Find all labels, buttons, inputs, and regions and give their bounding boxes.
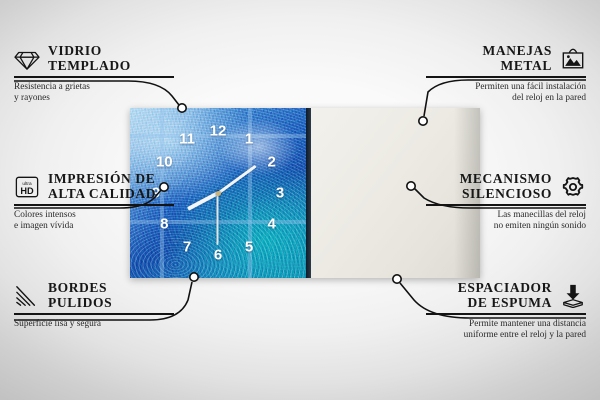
- feature-title: Bordes pulidos: [48, 281, 112, 310]
- divider: [14, 204, 174, 206]
- center-pin: [216, 191, 221, 196]
- picture-frame-hanger-icon: [560, 47, 586, 71]
- feature-vidrio-templado: Vidrio templado Resistencia a grietas y …: [14, 44, 174, 105]
- feature-header: Bordes pulidos: [14, 281, 174, 310]
- feature-desc: Permite mantener una distancia uniforme …: [426, 319, 586, 342]
- feature-desc: Resistencia a grietas y rayones: [14, 82, 174, 105]
- clock-numeral-10: 10: [156, 155, 173, 170]
- diamond-icon: [14, 47, 40, 71]
- highlight-glow: [218, 118, 299, 176]
- feature-title: Espaciador de espuma: [458, 281, 552, 310]
- feature-mecanismo-silencioso: Mecanismo silencioso Las manecillas del …: [426, 172, 586, 233]
- clock-numeral-6: 6: [214, 248, 222, 263]
- clock-numeral-1: 1: [245, 132, 253, 147]
- feature-header: Vidrio templado: [14, 44, 174, 73]
- ultra-hd-badge-icon: ultra HD: [14, 175, 40, 199]
- clock-numeral-5: 5: [245, 239, 253, 254]
- feature-title: Mecanismo silencioso: [460, 172, 552, 201]
- divider: [14, 76, 174, 78]
- feature-desc: Superficie lisa y segura: [14, 319, 174, 330]
- feature-header: Espaciador de espuma: [426, 281, 586, 310]
- feature-header: Mecanismo silencioso: [426, 172, 586, 201]
- feature-title: Manejas metal: [483, 44, 552, 73]
- feature-impresion-alta-calidad: ultra HD Impresión de alta calidad Color…: [14, 172, 174, 233]
- infographic-canvas: 123456789101112: [0, 0, 600, 400]
- badge-large-text: HD: [20, 185, 34, 195]
- feature-title: Impresión de alta calidad: [48, 172, 156, 201]
- clock-numeral-11: 11: [179, 132, 195, 147]
- clock-numeral-2: 2: [268, 155, 276, 170]
- divider: [426, 76, 586, 78]
- clock-numeral-4: 4: [268, 217, 276, 232]
- clock-numeral-3: 3: [276, 186, 284, 201]
- divider: [426, 313, 586, 315]
- clock-numeral-12: 12: [210, 124, 227, 139]
- feature-header: Manejas metal: [426, 44, 586, 73]
- feature-desc: Permiten una fácil instalación del reloj…: [426, 82, 586, 105]
- divider: [426, 204, 586, 206]
- foam-spacer-arrow-icon: [560, 284, 586, 308]
- feature-header: ultra HD Impresión de alta calidad: [14, 172, 174, 201]
- clock-numeral-7: 7: [183, 239, 191, 254]
- polished-edges-icon: [14, 284, 40, 308]
- feature-desc: Colores intensos e imagen vívida: [14, 210, 174, 233]
- feature-espaciador-de-espuma: Espaciador de espuma Permite mantener un…: [426, 281, 586, 342]
- divider: [14, 313, 174, 315]
- gear-icon: [560, 175, 586, 199]
- feature-manejas-metal: Manejas metal Permiten una fácil instala…: [426, 44, 586, 105]
- feature-bordes-pulidos: Bordes pulidos Superficie lisa y segura: [14, 281, 174, 330]
- feature-desc: Las manecillas del reloj no emiten ningú…: [426, 210, 586, 233]
- feature-title: Vidrio templado: [48, 44, 131, 73]
